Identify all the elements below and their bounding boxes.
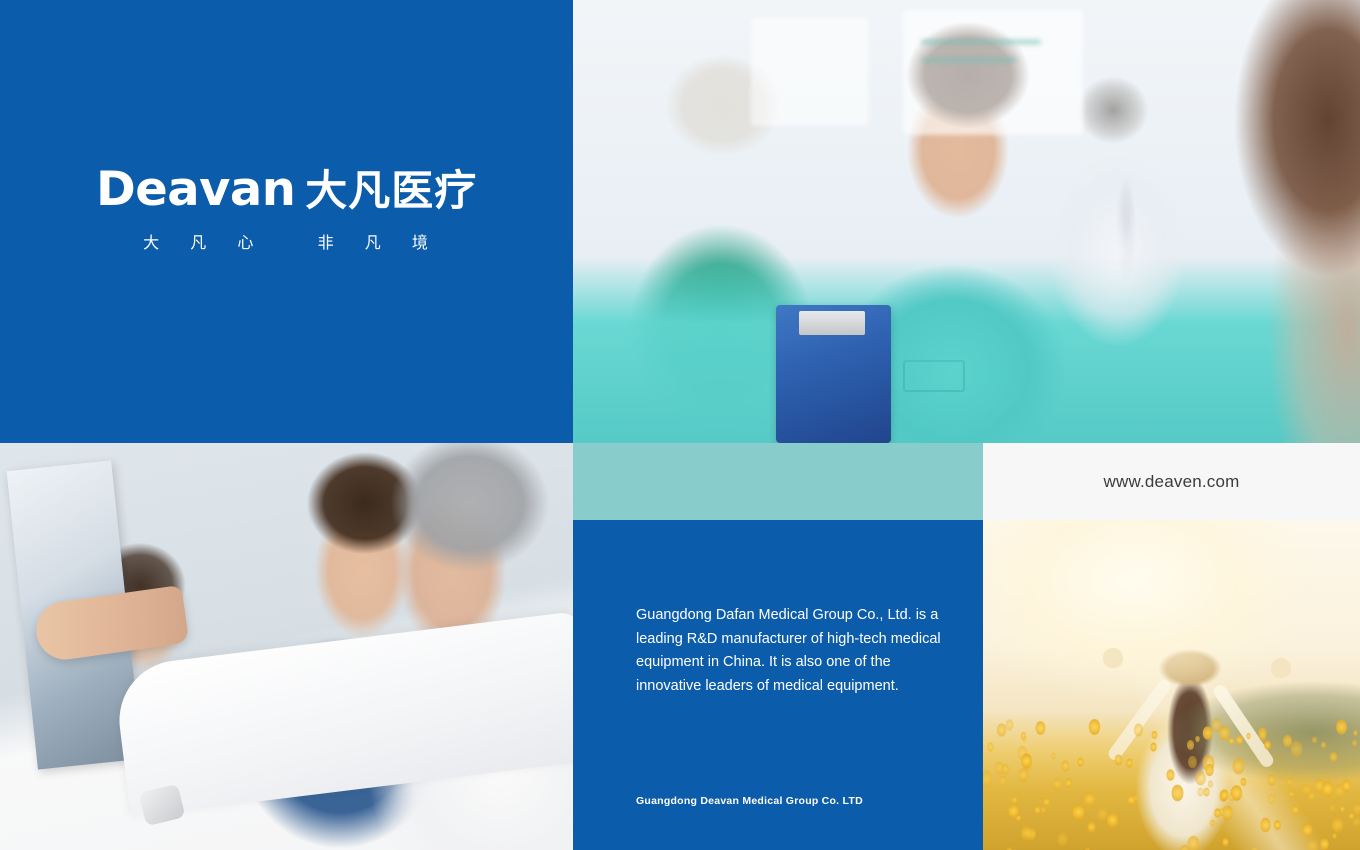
flower-dot [1268,774,1276,786]
poster-line-2 [921,58,1017,62]
flower-dot [1002,763,1009,774]
flower-dot [1223,838,1229,847]
flower-dot [1354,729,1358,735]
flower-dot [1088,821,1096,833]
flower-dot [1062,761,1070,773]
flower-dot [1187,740,1194,750]
flower-dot [1302,783,1311,796]
flower-dot [1107,812,1118,828]
flower-dot [1332,833,1336,839]
flower-dot [1336,719,1347,734]
flower-dot [1018,768,1028,783]
flower-dot [1222,805,1233,820]
flower-dot [1017,815,1022,822]
flower-dot [1115,755,1123,766]
flower-dot [1043,797,1050,806]
flower-dot [1210,820,1215,827]
flower-dot [1188,755,1197,768]
flower-dot [1128,794,1136,805]
teal-accent-band [573,443,983,520]
flower-dot [1274,820,1281,830]
flower-dot [1051,753,1056,760]
tagline-char-1: 大 [143,235,161,251]
company-legal-name: Guangdong Deavan Medical Group Co. LTD [636,795,863,807]
clipboard [776,305,891,443]
flower-dot [1078,758,1084,767]
flower-dot [1214,808,1221,818]
flower-dot [1291,741,1302,757]
flower-dot [1057,832,1067,847]
flower-dot [1320,838,1329,850]
brand-tagline: 大 凡 心 非 凡 境 [0,235,573,251]
website-url[interactable]: www.deaven.com [1103,472,1239,492]
logo-row: Deavan 大凡医疗 [0,166,573,213]
flower-dot [1197,788,1203,797]
open-hand-left [1103,648,1123,668]
tagline-char-2: 凡 [190,235,208,251]
flower-dot [1312,736,1317,743]
photo-sunset-field [983,520,1360,850]
flower-dot [1261,818,1271,833]
scrub-pocket [903,360,965,392]
flower-dot [1089,719,1100,735]
flower-dot [1353,816,1360,827]
flower-dot [1322,781,1334,798]
flower-dot [1150,743,1156,752]
flower-dot [1330,752,1337,762]
flower-dot [1180,845,1189,850]
flower-dot [1232,757,1244,774]
flower-dot [1134,724,1143,737]
flower-dot [1203,788,1209,797]
flower-dot [1195,771,1206,786]
flower-dot [1321,741,1326,748]
flower-dot [1034,805,1040,814]
flower-dot [1303,823,1313,837]
flower-dot [1340,806,1345,813]
flower-dot [1084,791,1095,807]
brand-panel: Deavan 大凡医疗 大 凡 心 非 凡 境 [0,0,573,443]
flower-dot [1207,780,1212,787]
flower-dot [1065,778,1072,788]
flower-dot [1167,770,1175,782]
flower-dot [987,742,994,751]
logo-wordmark: Deavan [96,166,295,213]
photo-medical-team [0,443,573,850]
flower-dot [1264,740,1271,750]
flower-dot [1252,845,1258,850]
flower-dot [1206,764,1215,777]
wall-poster-left [751,18,869,126]
open-hand-right [1271,658,1291,678]
flower-dot [1073,804,1085,821]
flower-dot [1021,753,1032,769]
flower-dot [1023,735,1027,741]
flower-dot [1330,804,1336,812]
flower-dot [1187,836,1199,850]
brochure-page: Deavan 大凡医疗 大 凡 心 非 凡 境 [0,0,1360,850]
photo-nurse-clinic [573,0,1360,443]
flower-dot [997,724,1007,738]
flower-dot [999,775,1007,787]
flower-dot [1229,737,1234,744]
company-description-text: Guangdong Dafan Medical Group Co., Ltd. … [636,604,949,698]
tagline-char-3: 心 [237,235,255,251]
flower-dot [983,770,993,787]
company-description: Guangdong Dafan Medical Group Co., Ltd. … [636,604,949,698]
logo-chinese-name: 大凡医疗 [305,170,477,212]
flower-dot [1236,735,1243,745]
flower-dot [1292,806,1299,816]
flower-dot [1246,732,1250,738]
tagline-char-6: 境 [412,235,430,251]
flower-dot [1240,778,1246,787]
flower-dot [1353,802,1360,815]
flower-dot [1053,777,1062,790]
flower-dot [1097,806,1108,821]
flower-dot [1287,778,1293,786]
tagline-char-5: 凡 [365,235,383,251]
flower-dot [1005,719,1013,730]
flower-dot [1036,721,1046,735]
brand-lockup: Deavan 大凡医疗 大 凡 心 非 凡 境 [0,166,573,251]
wall-poster-right [903,10,1083,135]
flower-dot [1306,837,1318,850]
tagline-char-4: 非 [318,235,336,251]
flower-dot [1152,731,1158,739]
flower-dot [1126,759,1133,768]
flower-dot [1011,796,1016,804]
raised-arm-left [1106,677,1173,762]
flower-dot [1171,784,1183,801]
flower-dot [1289,791,1294,798]
flower-dot [1021,825,1032,840]
flower-dot [1342,780,1351,793]
flower-dot [1203,726,1213,740]
flower-dot [1332,817,1343,833]
flower-dot [1041,806,1046,814]
company-info-panel: Guangdong Dafan Medical Group Co., Ltd. … [573,520,983,850]
flower-dot [1352,739,1357,746]
flower-dot [1195,736,1199,742]
website-url-panel: www.deaven.com [983,443,1360,520]
poster-line-1 [921,40,1041,44]
flower-dot [1228,793,1234,802]
flower-dot [1268,794,1275,805]
